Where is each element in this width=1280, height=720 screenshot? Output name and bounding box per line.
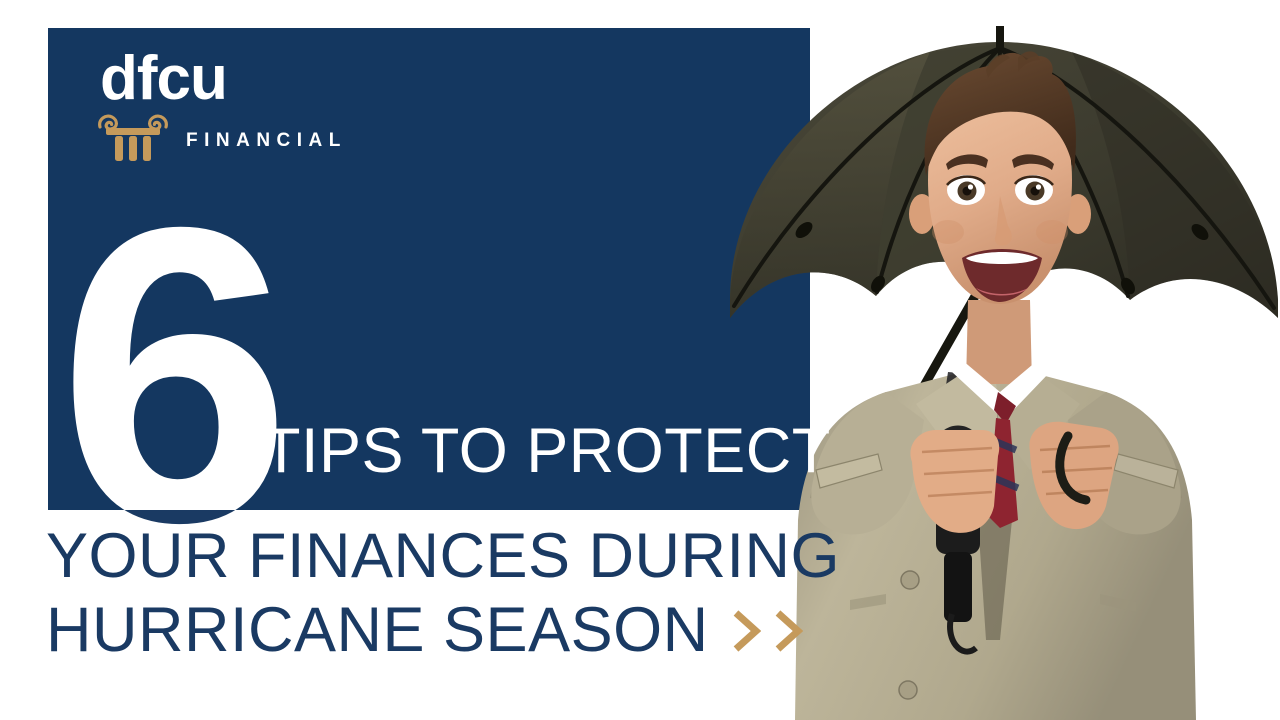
head [909, 51, 1091, 304]
headline-line-2: YOUR FINANCES DURING [46, 520, 840, 594]
shirt-collar [952, 360, 1050, 420]
tie [988, 418, 1018, 528]
chevron-right-icon[interactable] [731, 608, 761, 654]
headline-line-1: TIPS TO PROTECT [262, 420, 831, 483]
tie-knot [994, 392, 1016, 424]
headline-lower-block: YOUR FINANCES DURING HURRICANE SEASON [46, 520, 840, 667]
umbrella-shaft [876, 270, 990, 470]
logo-lower-row: FINANCIAL [96, 113, 347, 161]
tie-stripes [992, 440, 1018, 488]
headline-line-3-row: HURRICANE SEASON [46, 594, 840, 668]
hands [910, 422, 1118, 533]
ionic-column-icon [96, 113, 170, 161]
hurricane-tips-banner: 6 dfcu [0, 0, 1280, 720]
coat-buttons [899, 571, 919, 699]
logo-subtitle: FINANCIAL [186, 130, 347, 152]
logo-wordmark: dfcu [96, 50, 347, 109]
neck [966, 300, 1032, 384]
eyes [947, 175, 1053, 205]
chevron-right-icon[interactable] [773, 608, 803, 654]
microphone [936, 426, 980, 652]
dfcu-financial-logo: dfcu FINANCIAL [96, 50, 347, 161]
umbrella [730, 26, 1278, 318]
headline-line-3: HURRICANE SEASON [46, 594, 709, 668]
chevron-group[interactable] [731, 608, 803, 654]
trench-coat [795, 372, 1196, 720]
